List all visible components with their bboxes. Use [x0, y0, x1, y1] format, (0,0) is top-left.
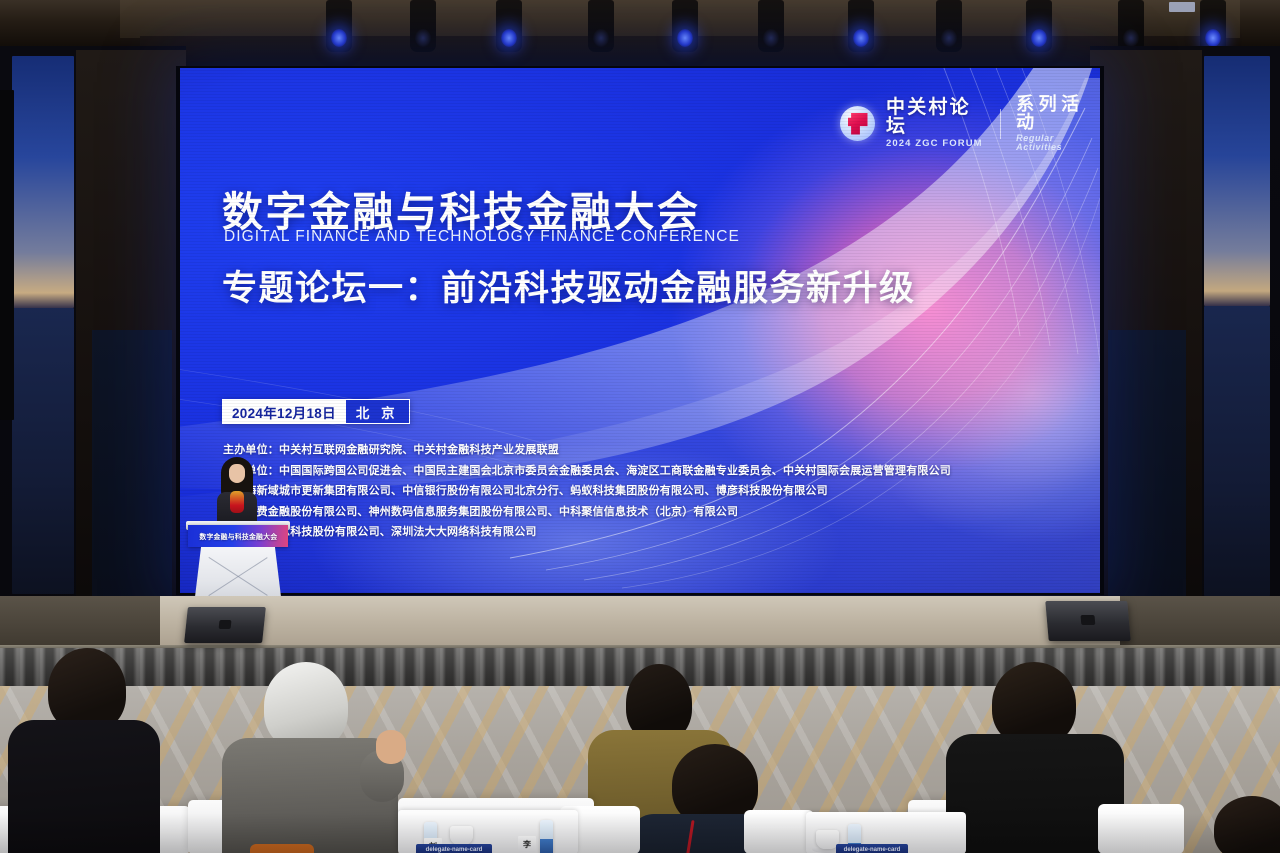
attendee-head: [264, 662, 348, 750]
stage-light-icon: [672, 0, 698, 52]
conference-hall-photo: 中关村论坛 2024 ZGC FORUM 系列活动 Regular Activi…: [0, 0, 1280, 853]
logo-secondary-text: 系列活动 Regular Activities: [1016, 95, 1100, 152]
organizer-line: 北京海新域城市更新集团有限公司、中信银行股份有限公司北京分行、蚂蚁科技集团股份有…: [223, 482, 951, 498]
speaker-scarf: [230, 491, 244, 513]
bottle-label: [540, 839, 553, 853]
speaker-face: [229, 464, 245, 483]
tea-cup: [450, 826, 473, 845]
logo-secondary-english: Regular Activities: [1016, 134, 1100, 152]
zgc-forum-emblem-icon: [840, 106, 875, 141]
sofa-arm-right: [1098, 804, 1184, 853]
date-location-badge: 2024年12月18日 北 京: [222, 399, 410, 424]
delegate-name-card: delegate-name-card: [416, 844, 492, 853]
right-wall-blue-panel-upper: [1204, 56, 1270, 306]
stage-light-icon: [1026, 0, 1052, 52]
organizer-line: 马上消费金融股份有限公司、神州数码信息服务集团股份有限公司、中科聚信信息技术（北…: [223, 503, 951, 519]
monitor-grille: [218, 620, 231, 629]
left-door: [92, 330, 172, 630]
conference-title-en: DIGITAL FINANCE AND TECHNOLOGY FINANCE C…: [224, 228, 740, 246]
attendee-hand: [376, 730, 406, 764]
event-date: 2024年12月18日: [222, 399, 346, 424]
podium-banner-text: 数字金融与科技金融大会: [199, 531, 277, 541]
emblem-glyph-icon: [848, 113, 868, 135]
stage-light-icon: [1200, 0, 1226, 52]
attendee-torso: [8, 720, 160, 853]
attendee-far-right: [1214, 796, 1280, 853]
logo-divider: [1000, 109, 1001, 139]
forum-subtitle: 专题论坛一：前沿科技驱动金融服务新升级: [222, 260, 916, 311]
organizer-line: 支持单位：中国国际跨国公司促进会、中国民主建国会北京市委员会金融委员会、海淀区工…: [223, 462, 951, 478]
right-door: [1108, 330, 1186, 630]
stage-monitor-left: [184, 607, 266, 643]
tent-card-right-text: 李: [523, 839, 531, 850]
stage-light-icon: [496, 0, 522, 52]
name-card-text: delegate-name-card: [426, 847, 483, 853]
led-screen: 中关村论坛 2024 ZGC FORUM 系列活动 Regular Activi…: [180, 68, 1100, 593]
ceiling: [0, 0, 1280, 62]
organizer-line: 上海合合信息科技股份有限公司、深圳法大大网络科技有限公司: [223, 523, 951, 539]
stage-light-icon: [410, 0, 436, 52]
stage-light-icon: [936, 0, 962, 52]
sofa-arm-back-center: [744, 810, 814, 853]
podium-area: 数字金融与科技金融大会: [178, 455, 298, 605]
stage-light-icon: [848, 0, 874, 52]
ceiling-panel-light: [1169, 2, 1195, 12]
zgc-forum-logo: 中关村论坛 2024 ZGC FORUM 系列活动 Regular Activi…: [840, 95, 1100, 152]
right-wall-blue-panel-lower: [1204, 306, 1270, 596]
event-city: 北 京: [346, 399, 410, 424]
stage-light-icon: [758, 0, 784, 52]
water-bottle: [540, 820, 553, 853]
logo-secondary-chinese: 系列活动: [1016, 95, 1100, 131]
logo-primary-text: 中关村论坛 2024 ZGC FORUM: [886, 98, 985, 149]
stage-light-icon: [588, 0, 614, 52]
speaker-person: [214, 455, 260, 523]
logo-english-name: 2024 ZGC FORUM: [886, 139, 985, 149]
attendee-black-jacket-right: [956, 662, 1110, 853]
stage-monitor-right: [1045, 601, 1130, 641]
name-card-text: delegate-name-card: [844, 847, 901, 853]
left-wall-blue-panel-lower: [12, 308, 74, 594]
podium-banner: 数字金融与科技金融大会: [188, 525, 288, 547]
stage-light-icon: [326, 0, 352, 52]
logo-chinese-name: 中关村论坛: [886, 98, 985, 136]
attendee-white-hair-gray-sweater: [228, 662, 388, 853]
attendee-head: [1214, 796, 1280, 853]
tent-card-right: 李: [518, 836, 536, 852]
delegate-name-card: delegate-name-card: [836, 844, 908, 853]
monitor-grille: [1081, 615, 1095, 625]
left-wall-shadow-strip: [0, 90, 14, 420]
attendee-dark-suit-left: [14, 648, 150, 853]
stage-light-icon: [1118, 0, 1144, 52]
left-wall-blue-panel-upper: [12, 56, 74, 308]
organizer-list: 主办单位：中关村互联网金融研究院、中关村金融科技产业发展联盟 支持单位：中国国际…: [223, 441, 951, 539]
attendee-orange-scarf: [250, 844, 314, 853]
organizer-line: 主办单位：中关村互联网金融研究院、中关村金融科技产业发展联盟: [223, 441, 951, 457]
